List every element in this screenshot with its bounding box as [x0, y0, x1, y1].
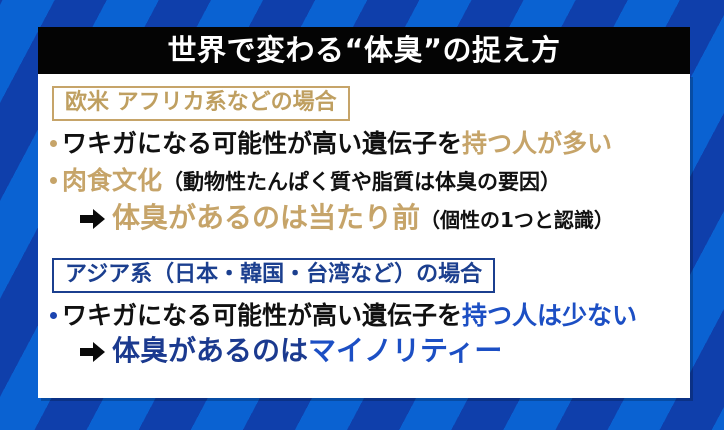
bullet-text-part-2-note: （動物性たんぱく質や脂質は体臭の要因）	[162, 166, 561, 196]
section-header-label-western: 欧米 アフリカ系などの場合	[65, 90, 337, 115]
section-header-box-asian: アジア系（日本・韓国・台湾など）の場合	[52, 258, 495, 293]
list-item: ワキガになる可能性が高い遺伝子を 持つ人は少ない	[50, 302, 690, 329]
conclusion-asian: 体臭があるのは マイノリティー	[80, 336, 690, 365]
right-arrow-icon	[80, 208, 106, 234]
conclusion-western: 体臭があるのは当たり前 （個性の1つと認識）	[80, 203, 690, 233]
bullet-dot-icon	[50, 177, 57, 184]
right-arrow-icon	[80, 341, 106, 367]
bullet-text-part-1-highlight: 肉食文化	[62, 167, 162, 194]
infographic-slide: 世界で変わる“体臭”の捉え方 欧米 アフリカ系などの場合 ワキガになる可能性が高…	[0, 0, 724, 430]
bullet-text-part-2-highlight: 持つ人が多い	[462, 130, 612, 157]
conclusion-note-text: （個性の1つと認識）	[420, 204, 614, 233]
bullet-text-part-1: ワキガになる可能性が高い遺伝子を	[62, 130, 462, 157]
bullet-text-part-2-highlight: 持つ人は少ない	[462, 302, 637, 329]
section-header-box-western: 欧米 アフリカ系などの場合	[52, 86, 350, 121]
bullet-dot-icon	[50, 312, 57, 319]
title-bar: 世界で変わる“体臭”の捉え方	[38, 27, 690, 74]
section-header-label-asian: アジア系（日本・韓国・台湾など）の場合	[65, 262, 482, 287]
conclusion-main-text-highlight: マイノリティー	[308, 336, 502, 365]
page-title: 世界で変わる“体臭”の捉え方	[167, 36, 560, 65]
bullet-text-part-1: ワキガになる可能性が高い遺伝子を	[62, 302, 462, 329]
conclusion-main-text: 体臭があるのは	[112, 336, 308, 365]
section-asian: アジア系（日本・韓国・台湾など）の場合 ワキガになる可能性が高い遺伝子を 持つ人…	[38, 258, 690, 365]
conclusion-main-text: 体臭があるのは当たり前	[112, 203, 420, 232]
content-card: 欧米 アフリカ系などの場合 ワキガになる可能性が高い遺伝子を 持つ人が多い 肉食…	[38, 74, 690, 398]
section-western: 欧米 アフリカ系などの場合 ワキガになる可能性が高い遺伝子を 持つ人が多い 肉食…	[38, 86, 690, 233]
bullet-dot-icon	[50, 140, 57, 147]
list-item: ワキガになる可能性が高い遺伝子を 持つ人が多い	[50, 130, 690, 157]
list-item: 肉食文化 （動物性たんぱく質や脂質は体臭の要因）	[50, 166, 690, 196]
